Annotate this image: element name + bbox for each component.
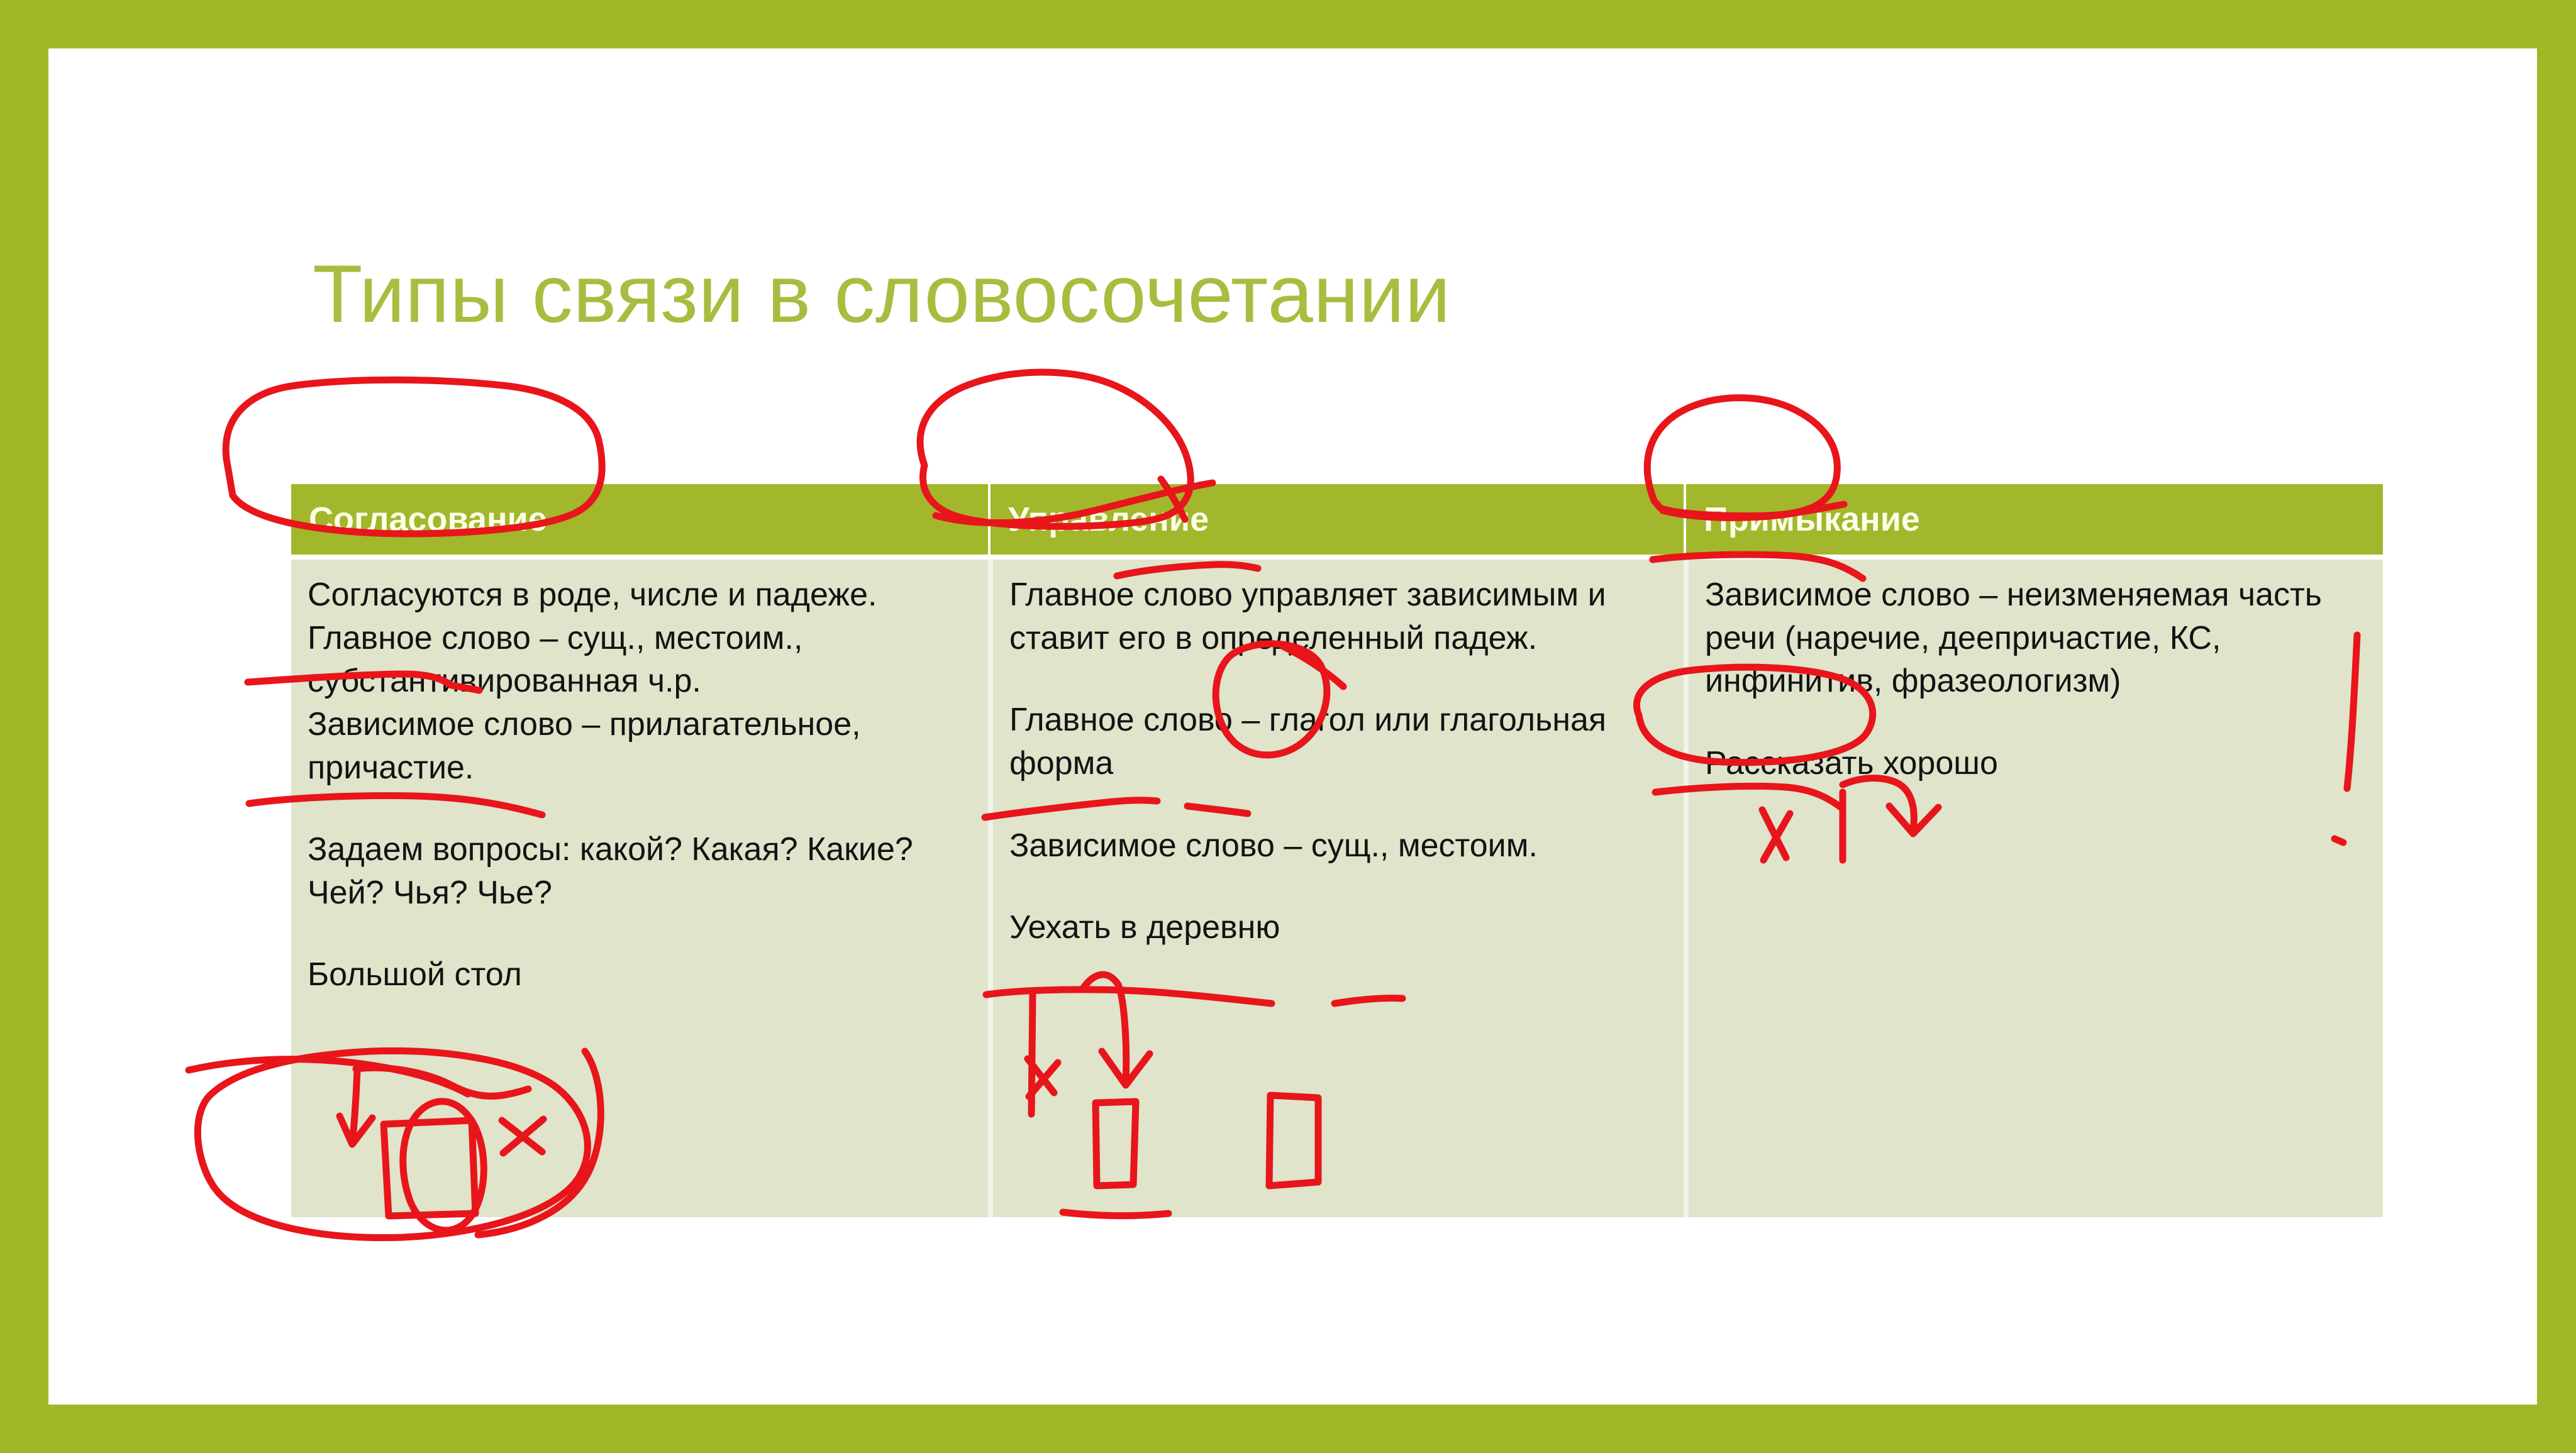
cell-line-example: Большой стол xyxy=(308,953,972,997)
slide-root: Типы связи в словосочетании Согласование… xyxy=(0,0,2576,1453)
cell-line: Главное слово – сущ., местоим., субстант… xyxy=(308,617,972,703)
column-header-soglasovanie: Согласование xyxy=(291,484,988,555)
cell-line-spacer xyxy=(1009,785,1667,824)
column-header-label: Управление xyxy=(991,500,1209,539)
table-column-primykanie: Примыкание Зависимое слово – неизменяема… xyxy=(1684,484,2383,1217)
cell-line: Главное слово – глагол или глагольная фо… xyxy=(1009,699,1667,785)
cell-line-spacer xyxy=(308,789,972,828)
cell-line: Главное слово управляет зависимым и став… xyxy=(1009,573,1667,660)
page-title: Типы связи в словосочетании xyxy=(313,246,2325,341)
cell-line: Зависимое слово – сущ., местоим. xyxy=(1009,824,1667,868)
cell-line-spacer xyxy=(308,914,972,953)
table-cell-soglasovanie: Согласуются в роде, числе и падеже. Глав… xyxy=(291,560,988,1217)
cell-line: Задаем вопросы: какой? Какая? Какие? Чей… xyxy=(308,828,972,914)
table-column-upravlenie: Управление Главное слово управляет завис… xyxy=(988,484,1684,1217)
column-header-upravlenie: Управление xyxy=(988,484,1684,555)
cell-line-spacer xyxy=(1705,703,2367,742)
table-cell-upravlenie: Главное слово управляет зависимым и став… xyxy=(988,560,1684,1217)
cell-line-example: Уехать в деревню xyxy=(1009,906,1667,949)
column-header-label: Согласование xyxy=(291,500,547,539)
cell-line: Зависимое слово – прилагательное, причас… xyxy=(308,703,972,789)
cell-line-spacer xyxy=(1009,660,1667,699)
connection-types-table: Согласование Согласуются в роде, числе и… xyxy=(291,484,2383,1217)
table-column-soglasovanie: Согласование Согласуются в роде, числе и… xyxy=(291,484,988,1217)
cell-line-spacer xyxy=(1009,867,1667,906)
column-header-primykanie: Примыкание xyxy=(1684,484,2383,555)
table-cell-primykanie: Зависимое слово – неизменяемая часть реч… xyxy=(1684,560,2383,1217)
slide-canvas: Типы связи в словосочетании Согласование… xyxy=(48,48,2537,1405)
cell-line: Зависимое слово – неизменяемая часть реч… xyxy=(1705,573,2367,703)
column-header-label: Примыкание xyxy=(1686,500,1920,539)
cell-line-example: Рассказать хорошо xyxy=(1705,742,2367,785)
cell-line: Согласуются в роде, числе и падеже. xyxy=(308,573,972,617)
